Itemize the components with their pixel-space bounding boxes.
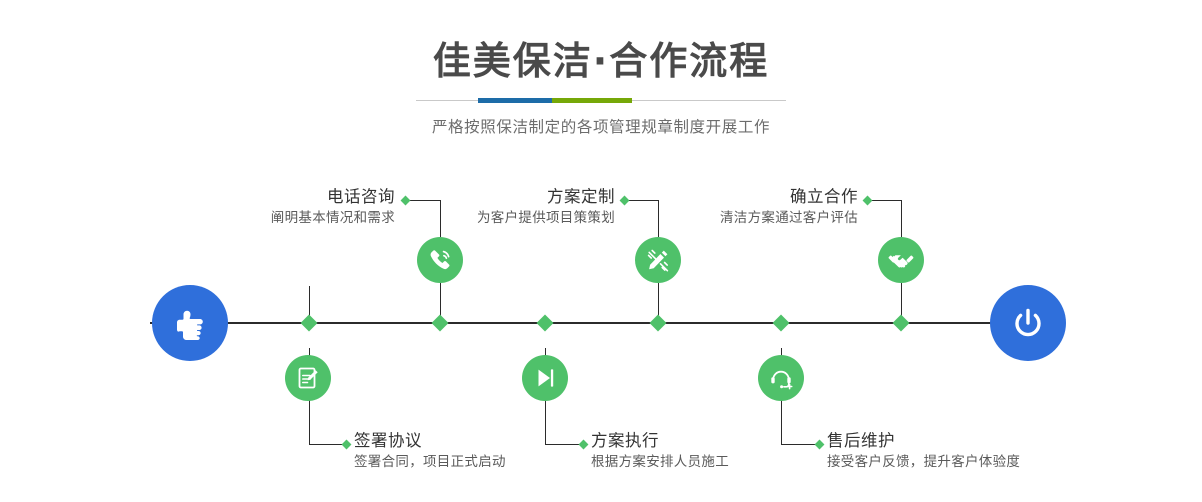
step-label-1: 电话咨询 阐明基本情况和需求 [150, 186, 395, 228]
step-label-2: 签署协议 签署合同，项目正式启动 [354, 430, 506, 472]
headset-support-icon [767, 364, 795, 392]
timeline-tip-4 [579, 440, 589, 450]
step-title-3: 方案定制 [370, 186, 615, 208]
step-title-2: 签署协议 [354, 430, 506, 452]
timeline-marker-icon-3 [650, 315, 667, 332]
step-desc-1: 阐明基本情况和需求 [150, 208, 395, 228]
timeline-marker-3 [537, 315, 554, 332]
timeline-end-node[interactable] [990, 285, 1066, 361]
document-edit-icon [294, 364, 322, 392]
step-desc-4: 根据方案安排人员施工 [591, 452, 729, 472]
timeline-axis [150, 322, 1052, 324]
process-flow-infographic: 佳美保洁·合作流程 严格按照保洁制定的各项管理规章制度开展工作 [0, 0, 1202, 502]
handshake-icon [887, 246, 915, 274]
timeline-elbow-h-6 [781, 444, 818, 445]
step-label-4: 方案执行 根据方案安排人员施工 [591, 430, 729, 472]
play-execute-icon [531, 364, 559, 392]
step-desc-3: 为客户提供项目策策划 [370, 208, 615, 228]
pointing-hand-icon [169, 302, 211, 344]
phone-call-icon [426, 246, 454, 274]
step-title-5: 确立合作 [613, 186, 858, 208]
timeline-icon-node-1[interactable] [417, 237, 463, 283]
timeline-elbow-v-5 [901, 200, 902, 237]
step-label-5: 确立合作 清洁方案通过客户评估 [613, 186, 858, 228]
timeline-icon-node-3[interactable] [635, 237, 681, 283]
timeline-icon-node-6[interactable] [758, 355, 804, 401]
timeline-marker-icon-1 [432, 315, 449, 332]
timeline-elbow-h-4 [545, 444, 582, 445]
step-title-1: 电话咨询 [150, 186, 395, 208]
timeline-tip-5 [863, 196, 873, 206]
timeline-marker-5 [773, 315, 790, 332]
timeline-start-node[interactable] [152, 285, 228, 361]
step-desc-5: 清洁方案通过客户评估 [613, 208, 858, 228]
timeline-marker-1 [301, 315, 318, 332]
timeline-tip-6 [815, 440, 825, 450]
step-title-4: 方案执行 [591, 430, 729, 452]
timeline-icon-node-4[interactable] [522, 355, 568, 401]
step-desc-2: 签署合同，项目正式启动 [354, 452, 506, 472]
timeline-icon-node-5[interactable] [878, 237, 924, 283]
pencil-ruler-icon [644, 246, 672, 274]
step-title-6: 售后维护 [827, 430, 1020, 452]
step-desc-6: 接受客户反馈，提升客户体验度 [827, 452, 1020, 472]
step-label-3: 方案定制 为客户提供项目策策划 [370, 186, 615, 228]
step-label-6: 售后维护 接受客户反馈，提升客户体验度 [827, 430, 1020, 472]
timeline-marker-icon-5 [893, 315, 910, 332]
timeline-elbow-h-5 [868, 200, 902, 201]
timeline-tip-2 [342, 440, 352, 450]
timeline-icon-node-2[interactable] [285, 355, 331, 401]
timeline: 电话咨询 阐明基本情况和需求 签署协议 签署合同，项目正式启动 [0, 0, 1202, 502]
power-icon [1007, 302, 1049, 344]
